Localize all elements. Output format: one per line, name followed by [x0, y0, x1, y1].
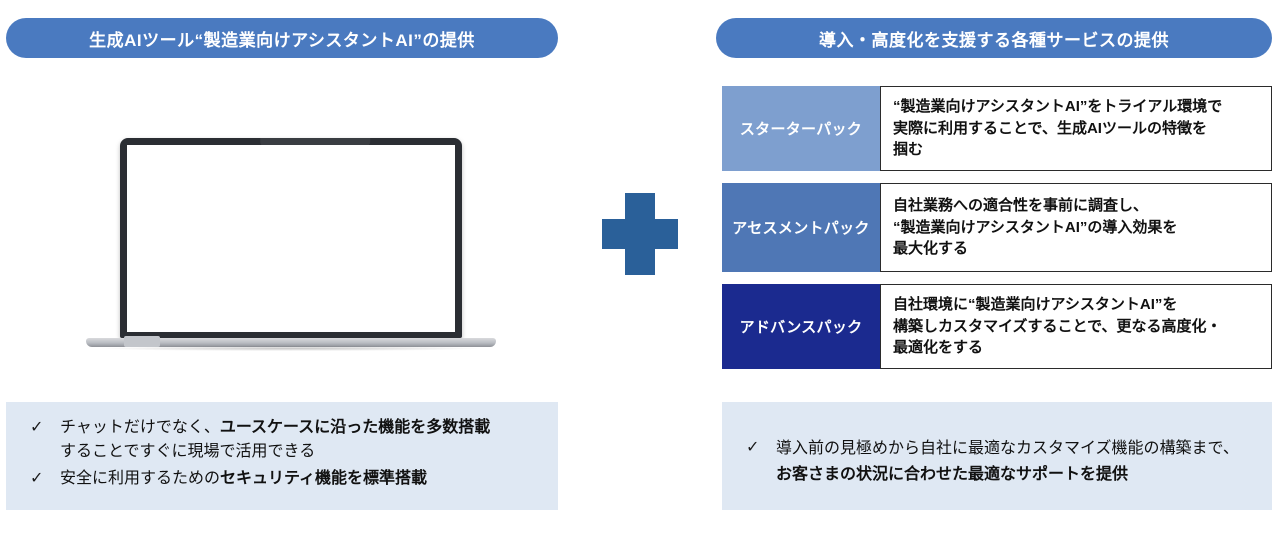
service-description: “製造業向けアシスタントAI”をトライアル環境で 実際に利用することで、生成AI…: [880, 86, 1272, 171]
plus-vertical-bar: [625, 193, 655, 275]
service-description-line: 最大化する: [893, 238, 1177, 260]
banner-right-title: 導入・高度化を支援する各種サービスの提供: [716, 18, 1272, 58]
service-description-line: 自社環境に“製造業向けアシスタントAI”を: [893, 294, 1222, 316]
bullet-text: 安全に利用するためのセキュリティ機能を標準搭載: [60, 467, 427, 491]
list-item: ✓ チャットだけでなく、ユースケースに沿った機能を多数搭載することですぐに現場で…: [24, 416, 540, 465]
bullet-text: チャットだけでなく、ユースケースに沿った機能を多数搭載することですぐに現場で活用…: [60, 416, 490, 465]
slide-canvas: 生成AIツール“製造業向けアシスタントAI”の提供 導入・高度化を支援する各種サ…: [0, 0, 1280, 533]
service-row: スターターパック “製造業向けアシスタントAI”をトライアル環境で 実際に利用す…: [722, 86, 1272, 171]
note-box-right: ✓ 導入前の見極めから自社に最適なカスタマイズ機能の構築まで、お客さまの状況に合…: [722, 402, 1272, 510]
laptop-lid: [120, 138, 462, 338]
service-row: アドバンスパック 自社環境に“製造業向けアシスタントAI”を 構築しカスタマイズ…: [722, 284, 1272, 369]
service-description: 自社業務への適合性を事前に調査し、 “製造業向けアシスタントAI”の導入効果を …: [880, 183, 1272, 272]
service-description-line: 実際に利用することで、生成AIツールの特徴を: [893, 118, 1222, 140]
service-description-line: 最適化をする: [893, 337, 1222, 359]
bullet-text: 導入前の見極めから自社に最適なカスタマイズ機能の構築まで、お客さまの状況に合わせ…: [776, 436, 1239, 487]
plus-icon: [602, 193, 678, 275]
service-label: アドバンスパック: [722, 284, 880, 369]
service-description-line: “製造業向けアシスタントAI”の導入効果を: [893, 217, 1177, 239]
service-description-line: “製造業向けアシスタントAI”をトライアル環境で: [893, 96, 1222, 118]
list-item: ✓ 導入前の見極めから自社に最適なカスタマイズ機能の構築まで、お客さまの状況に合…: [740, 436, 1254, 487]
check-icon: ✓: [24, 467, 60, 491]
service-description-line: 構築しカスタマイズすることで、更なる高度化・: [893, 316, 1222, 338]
laptop-shadow: [102, 346, 480, 351]
check-icon: ✓: [24, 416, 60, 440]
laptop-screen: [127, 145, 455, 332]
service-description-line: 掴む: [893, 139, 1222, 161]
service-description: 自社環境に“製造業向けアシスタントAI”を 構築しカスタマイズすることで、更なる…: [880, 284, 1272, 369]
service-label: スターターパック: [722, 86, 880, 171]
laptop-illustration: [86, 138, 496, 366]
service-label: アセスメントパック: [722, 183, 880, 272]
banner-left-title: 生成AIツール“製造業向けアシスタントAI”の提供: [6, 18, 558, 58]
list-item: ✓ 安全に利用するためのセキュリティ機能を標準搭載: [24, 467, 540, 491]
service-row: アセスメントパック 自社業務への適合性を事前に調査し、 “製造業向けアシスタント…: [722, 183, 1272, 272]
note-box-left: ✓ チャットだけでなく、ユースケースに沿った機能を多数搭載することですぐに現場で…: [6, 402, 558, 510]
service-description-line: 自社業務への適合性を事前に調査し、: [893, 195, 1177, 217]
check-icon: ✓: [740, 436, 776, 460]
